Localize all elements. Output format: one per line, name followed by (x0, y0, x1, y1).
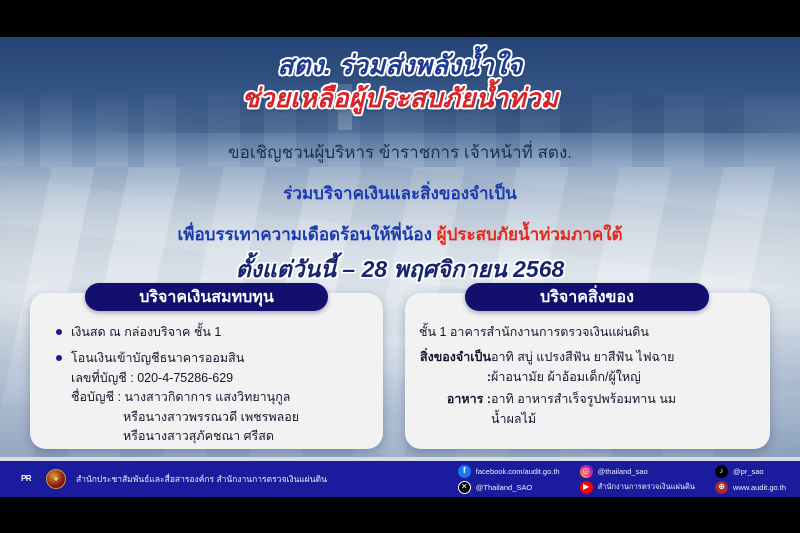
card-money-title: บริจาคเงินสมทบทุน (85, 283, 328, 311)
body-copy-block: ขอเชิญชวนผู้บริหาร ข้าราชการ เจ้าหน้าที่… (0, 140, 800, 248)
account-number-line: เลขที่บัญชี : 020-4-75286-629 (71, 369, 369, 388)
money-bullet-cash: เงินสด ณ กล่องบริจาค ชั้น 1 (44, 323, 369, 342)
bullet-dot-icon (56, 355, 62, 361)
purpose-accent: ผู้ประสบภัยน้ำท่วมภาคใต้ (437, 225, 623, 244)
social-label-x-twitter: @Thailand_SAO (476, 483, 532, 492)
account-name-line-2: หรือนางสาวพรรณวดี เพชรพลอย (71, 408, 369, 427)
headline-block: สตง. ร่วมส่งพลังน้ำใจ ช่วยเหลือผู้ประสบภ… (0, 50, 800, 113)
money-cash-text: เงินสด ณ กล่องบริจาค ชั้น 1 (71, 323, 369, 342)
social-label-instagram: @thailand_sao (598, 467, 648, 476)
goods-needs-line-1: อาทิ สบู่ แปรงสีฟัน ยาสีฟัน ไฟฉาย (491, 348, 756, 367)
facebook-icon: f (458, 465, 471, 478)
tiktok-icon: ♪ (715, 465, 728, 478)
garuda-seal-icon: ✦ (46, 469, 66, 489)
bank-name-line: โอนเงินเข้าบัญชีธนาคารออมสิน (71, 349, 369, 368)
purpose-prefix: เพื่อบรรเทาความเดือดร้อนให้พี่น้อง (177, 225, 436, 244)
account-name-line-1: ชื่อบัญชี : นางสาวกิดาการ แสงวิทยานุกูล (71, 388, 369, 407)
goods-needs-label: สิ่งของจำเป็น : (419, 348, 491, 387)
social-link-youtube[interactable]: ▶ สำนักงานการตรวจเงินแผ่นดิน (580, 481, 695, 494)
letterbox-bar-bottom (0, 497, 800, 533)
goods-food-line-1: อาทิ อาหารสำเร็จรูปพร้อมทาน นม (491, 390, 756, 409)
goods-needs-row: สิ่งของจำเป็น : อาทิ สบู่ แปรงสีฟัน ยาสี… (419, 348, 756, 387)
letterbox-bar-top (0, 0, 800, 37)
goods-food-values: อาทิ อาหารสำเร็จรูปพร้อมทาน นม น้ำผลไม้ (491, 390, 756, 429)
social-link-x-twitter[interactable]: ✕ @Thailand_SAO (458, 481, 560, 494)
social-link-instagram[interactable]: ◎ @thailand_sao (580, 465, 695, 478)
headline-line-2: ช่วยเหลือผู้ประสบภัยน้ำท่วม (0, 83, 800, 114)
goods-food-line-2: น้ำผลไม้ (491, 410, 756, 429)
card-goods-donation: บริจาคสิ่งของ ชั้น 1 อาคารสำนักงานการตรว… (405, 293, 770, 449)
call-to-action-line: ร่วมบริจาคเงินและสิ่งของจำเป็น (0, 180, 800, 207)
footer-organization-line: สำนักประชาสัมพันธ์และสื่อสารองค์กร สำนัก… (76, 472, 327, 486)
money-transfer-text: โอนเงินเข้าบัญชีธนาคารออมสิน เลขที่บัญชี… (71, 349, 369, 446)
card-goods-body: ชั้น 1 อาคารสำนักงานการตรวจเงินแผ่นดิน ส… (405, 293, 770, 442)
social-link-tiktok[interactable]: ♪ @pr_sao (715, 465, 786, 478)
youtube-icon: ▶ (580, 481, 593, 494)
purpose-line: เพื่อบรรเทาความเดือดร้อนให้พี่น้อง ผู้ปร… (0, 221, 800, 248)
goods-food-label: อาหาร : (419, 390, 491, 409)
card-money-donation: บริจาคเงินสมทบทุน เงินสด ณ กล่องบริจาค ช… (30, 293, 383, 449)
seal-glyph: ✦ (52, 475, 60, 484)
footer-bar: PR ✦ สำนักประชาสัมพันธ์และสื่อสารองค์กร … (0, 461, 800, 497)
social-label-website: www.audit.go.th (733, 483, 786, 492)
social-link-facebook[interactable]: f facebook.com/audit.go.th (458, 465, 560, 478)
goods-needs-values: อาทิ สบู่ แปรงสีฟัน ยาสีฟัน ไฟฉาย ผ้าอนา… (491, 348, 756, 387)
footer-top-divider (0, 457, 800, 461)
money-bullet-transfer: โอนเงินเข้าบัญชีธนาคารออมสิน เลขที่บัญชี… (44, 349, 369, 446)
goods-location-line: ชั้น 1 อาคารสำนักงานการตรวจเงินแผ่นดิน (419, 323, 756, 342)
website-globe-icon: ⊕ (715, 481, 728, 494)
bullet-dot-icon (56, 329, 62, 335)
goods-needs-line-2: ผ้าอนามัย ผ้าอ้อมเด็ก/ผู้ใหญ่ (491, 368, 756, 387)
social-label-facebook: facebook.com/audit.go.th (476, 467, 560, 476)
card-goods-title: บริจาคสิ่งของ (465, 283, 709, 311)
footer-social-links: f facebook.com/audit.go.th ◎ @thailand_s… (458, 465, 800, 494)
account-name-line-3: หรือนางสาวสุภัคชณา ศรีสด (71, 427, 369, 446)
social-link-website[interactable]: ⊕ www.audit.go.th (715, 481, 786, 494)
social-label-youtube: สำนักงานการตรวจเงินแผ่นดิน (598, 481, 695, 493)
headline-line-1: สตง. ร่วมส่งพลังน้ำใจ (0, 50, 800, 81)
invite-line: ขอเชิญชวนผู้บริหาร ข้าราชการ เจ้าหน้าที่… (0, 140, 800, 166)
pr-logo-text: PR (21, 475, 31, 483)
card-money-body: เงินสด ณ กล่องบริจาค ชั้น 1 โอนเงินเข้าบ… (30, 293, 383, 463)
instagram-icon: ◎ (580, 465, 593, 478)
social-label-tiktok: @pr_sao (733, 467, 764, 476)
footer-branding: PR ✦ สำนักประชาสัมพันธ์และสื่อสารองค์กร … (0, 469, 327, 489)
goods-food-row: อาหาร : อาทิ อาหารสำเร็จรูปพร้อมทาน นม น… (419, 390, 756, 429)
pr-sao-logo-icon: PR (12, 469, 40, 489)
x-twitter-icon: ✕ (458, 481, 471, 494)
poster-canvas: สตง. ร่วมส่งพลังน้ำใจ ช่วยเหลือผู้ประสบภ… (0, 0, 800, 533)
